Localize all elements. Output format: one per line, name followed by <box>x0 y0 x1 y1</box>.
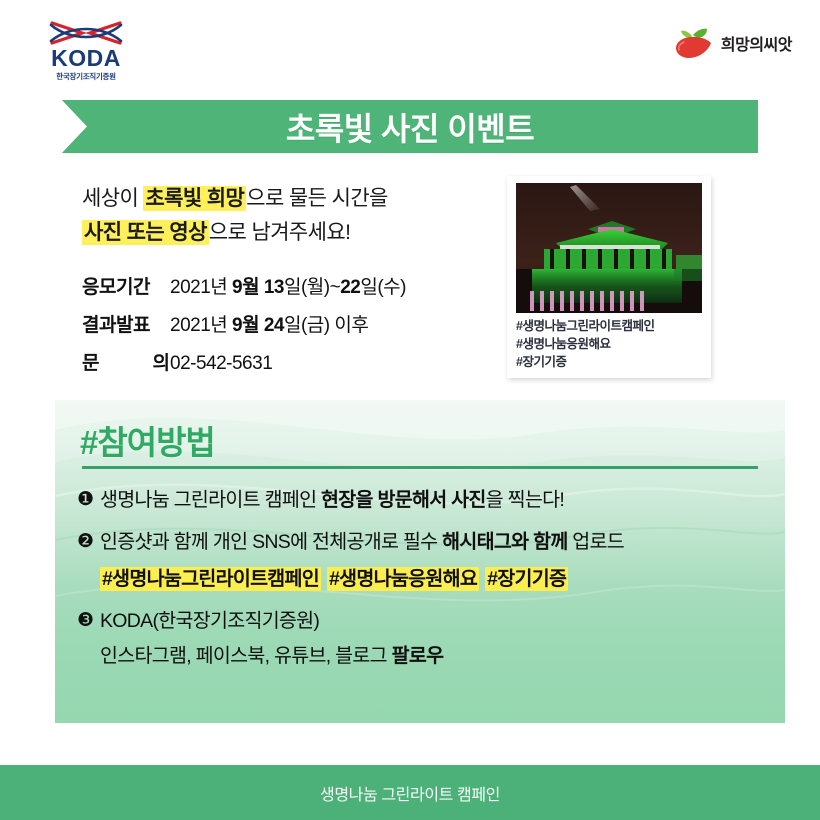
info-label-inquiry: 문 의 <box>82 348 170 375</box>
step-item-1: ❶ 생명나눔 그린라이트 캠페인 현장을 방문해서 사진을 찍는다! <box>77 486 777 514</box>
lead-line2-b: 으로 남겨주세요! <box>209 221 351 244</box>
section-title: #참여방법 <box>80 416 215 464</box>
lead-copy: 세상이 초록빛 희망으로 물든 시간을 사진 또는 영상으로 남겨주세요! <box>82 182 502 250</box>
info-value-inquiry: 02-542-5631 <box>170 353 272 375</box>
step-text: 인증샷과 함께 개인 SNS에 전체공개로 필수 해시태그와 함께 업로드 #생… <box>100 528 624 593</box>
pavilion-night-illustration <box>516 183 702 313</box>
koda-wordmark: KODA <box>26 47 146 70</box>
photo-card: #생명나눔그린라이트캠페인 #생명나눔응원해요 #장기기증 <box>507 176 711 378</box>
info-label-result: 결과발표 <box>82 310 170 337</box>
lead-line1-highlight: 초록빛 희망 <box>143 186 246 211</box>
photo-hashtag: #장기기증 <box>516 354 703 372</box>
banner-title: 초록빛 사진 이벤트 <box>286 104 534 150</box>
event-info-list: 응모기간 2021년 9월 13일(월)~22일(수) 결과발표 2021년 9… <box>82 272 512 386</box>
info-value-result: 2021년 9월 24일(금) 이후 <box>170 310 368 337</box>
step-item-3: ❸ KODA(한국장기조직기증원) 인스타그램, 페이스북, 유튜브, 블로그 … <box>77 607 777 671</box>
step-item-2: ❷ 인증샷과 함께 개인 SNS에 전체공개로 필수 해시태그와 함께 업로드 … <box>77 528 777 593</box>
step-text: KODA(한국장기조직기증원) 인스타그램, 페이스북, 유튜브, 블로그 팔로… <box>100 607 443 671</box>
red-seed-with-leaves-icon <box>674 26 714 60</box>
steps-list: ❶ 생명나눔 그린라이트 캠페인 현장을 방문해서 사진을 찍는다! ❷ 인증샷… <box>77 486 777 684</box>
koda-subtitle: 한국장기조직기증원 <box>26 71 146 82</box>
participation-card: #참여방법 ❶ 생명나눔 그린라이트 캠페인 현장을 방문해서 사진을 찍는다!… <box>55 400 785 723</box>
info-row-inquiry: 문 의 02-542-5631 <box>82 348 512 375</box>
info-value-period: 2021년 9월 13일(월)~22일(수) <box>170 272 406 299</box>
section-divider <box>82 466 758 469</box>
step-hashtag: #생명나눔응원해요 <box>327 567 479 591</box>
step-number: ❸ <box>77 607 100 635</box>
campaign-photo <box>516 183 702 313</box>
step-number: ❷ <box>77 528 100 556</box>
seed-of-hope-logo: 희망의씨앗 <box>674 26 792 60</box>
step-hashtag: #장기기증 <box>485 567 568 591</box>
seed-of-hope-wordmark: 희망의씨앗 <box>721 31 792 55</box>
info-row-result: 결과발표 2021년 9월 24일(금) 이후 <box>82 310 512 337</box>
koda-ribbon-mark <box>48 20 124 46</box>
step-text: 생명나눔 그린라이트 캠페인 현장을 방문해서 사진을 찍는다! <box>100 486 564 514</box>
poster-root: KODA 한국장기조직기증원 희망의씨앗 초록빛 사진 이벤트 세상이 초록빛 … <box>0 0 820 820</box>
title-banner-inner: 초록빛 사진 이벤트 <box>62 100 758 153</box>
step-number: ❶ <box>77 486 100 514</box>
footer-text: 생명나눔 그린라이트 캠페인 <box>320 781 500 805</box>
step-hashtag: #생명나눔그린라이트캠페인 <box>100 567 321 591</box>
title-banner: 초록빛 사진 이벤트 <box>62 100 758 153</box>
lead-line1-b: 으로 물든 시간을 <box>246 187 388 210</box>
lead-line1-a: 세상이 <box>82 187 143 210</box>
photo-hashtag: #생명나눔그린라이트캠페인 <box>516 318 703 336</box>
photo-hashtag-list: #생명나눔그린라이트캠페인 #생명나눔응원해요 #장기기증 <box>516 318 703 371</box>
step-text-line2: 인스타그램, 페이스북, 유튜브, 블로그 팔로우 <box>100 642 443 670</box>
step-hashtag-row: #생명나눔그린라이트캠페인#생명나눔응원해요#장기기증 <box>100 565 624 593</box>
photo-hashtag: #생명나눔응원해요 <box>516 336 703 354</box>
lead-line2-highlight: 사진 또는 영상 <box>82 220 209 245</box>
footer-bar: 생명나눔 그린라이트 캠페인 <box>0 765 820 820</box>
info-label-period: 응모기간 <box>82 272 170 299</box>
info-row-period: 응모기간 2021년 9월 13일(월)~22일(수) <box>82 272 512 299</box>
koda-logo: KODA 한국장기조직기증원 <box>26 20 146 82</box>
